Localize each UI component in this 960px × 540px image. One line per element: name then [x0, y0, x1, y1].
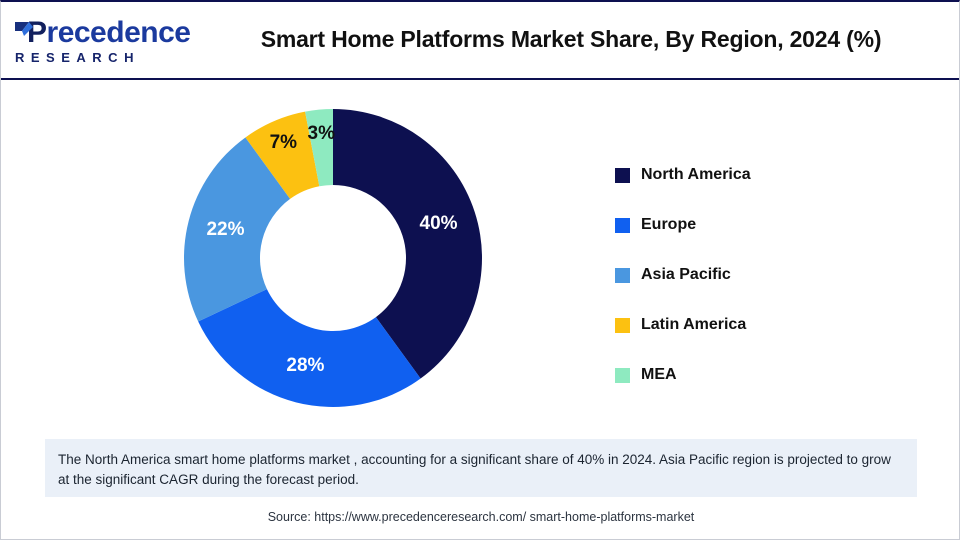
legend-item-label: Europe: [641, 216, 696, 234]
legend-item-latin-america: Latin America: [615, 300, 915, 350]
donut-slice-europe: [198, 289, 420, 407]
precedence-leaf-mark-icon: [13, 20, 35, 44]
slice-label-north-america: 40%: [420, 213, 458, 235]
legend-item-mea: MEA: [615, 350, 915, 400]
legend-swatch-icon: [615, 168, 630, 183]
logo-wordmark: Precedence: [13, 18, 173, 48]
legend-swatch-icon: [615, 268, 630, 283]
chart-legend: North America Europe Asia Pacific Latin …: [615, 150, 915, 400]
slice-label-asia-pacific: 22%: [206, 219, 244, 241]
logo-subtitle: RESEARCH: [13, 50, 173, 65]
figure-header: Precedence RESEARCH Smart Home Platforms…: [1, 2, 959, 80]
caption-panel: The North America smart home platforms m…: [45, 439, 917, 497]
page-title: Smart Home Platforms Market Share, By Re…: [201, 26, 941, 53]
legend-swatch-icon: [615, 368, 630, 383]
legend-item-europe: Europe: [615, 200, 915, 250]
legend-item-label: MEA: [641, 366, 677, 384]
caption-text: The North America smart home platforms m…: [58, 450, 903, 490]
legend-swatch-icon: [615, 318, 630, 333]
donut-chart: 40% 28% 22% 7% 3%: [177, 102, 489, 414]
chart-figure: Precedence RESEARCH Smart Home Platforms…: [0, 0, 960, 540]
slice-label-mea: 3%: [308, 123, 335, 145]
precedence-research-logo: Precedence RESEARCH: [13, 18, 173, 66]
slice-label-latin-america: 7%: [270, 132, 297, 154]
legend-item-label: Latin America: [641, 316, 746, 334]
source-line: Source: https://www.precedenceresearch.c…: [45, 510, 917, 524]
legend-item-north-america: North America: [615, 150, 915, 200]
donut-chart-svg: [177, 102, 489, 414]
logo-word-rest: recedence: [47, 16, 191, 49]
legend-item-label: Asia Pacific: [641, 266, 731, 284]
slice-label-europe: 28%: [286, 355, 324, 377]
legend-swatch-icon: [615, 218, 630, 233]
legend-item-label: North America: [641, 166, 751, 184]
legend-item-asia-pacific: Asia Pacific: [615, 250, 915, 300]
